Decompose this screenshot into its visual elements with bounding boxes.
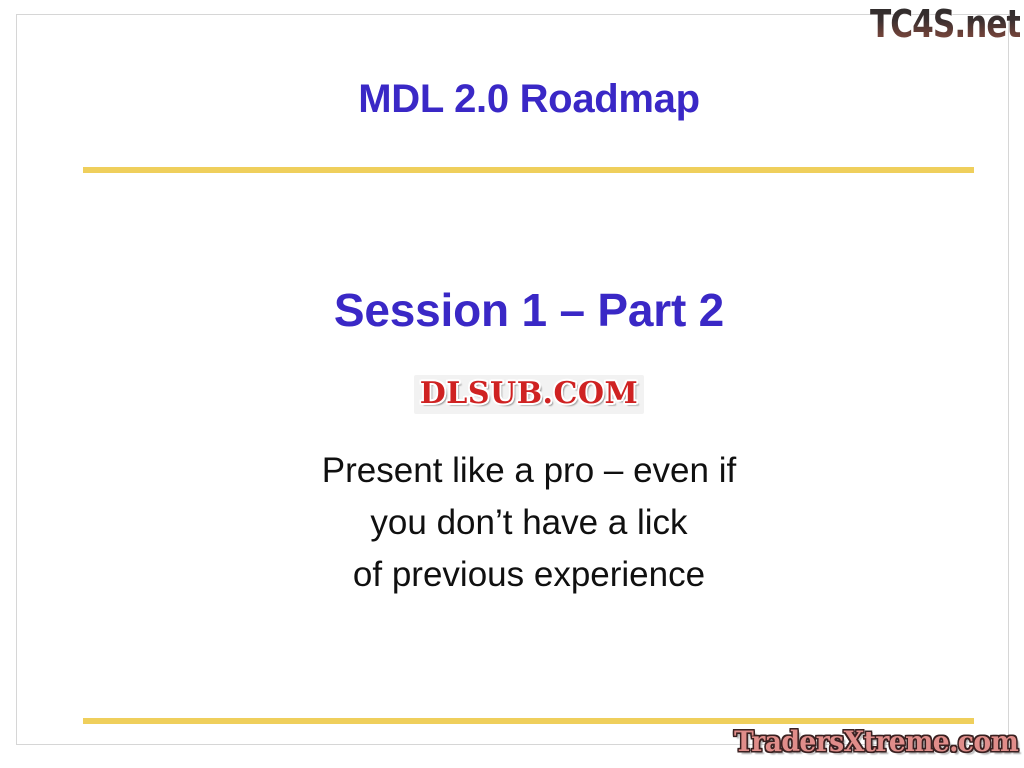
divider-top [83, 167, 974, 173]
body-line-1: Present like a pro – even if [17, 445, 1024, 497]
body-copy: Present like a pro – even if you don’t h… [17, 445, 1024, 601]
body-line-2: you don’t have a lick [17, 497, 1024, 549]
dlsub-watermark: DLSUB.COM [17, 375, 1024, 414]
divider-bottom [83, 718, 974, 724]
body-line-3: of previous experience [17, 549, 1024, 601]
slide-title: MDL 2.0 Roadmap [17, 77, 1024, 122]
session-heading: Session 1 – Part 2 [17, 283, 1024, 337]
slide-canvas: MDL 2.0 Roadmap Session 1 – Part 2 DLSUB… [16, 14, 1009, 745]
dlsub-watermark-text: DLSUB.COM [414, 375, 644, 414]
